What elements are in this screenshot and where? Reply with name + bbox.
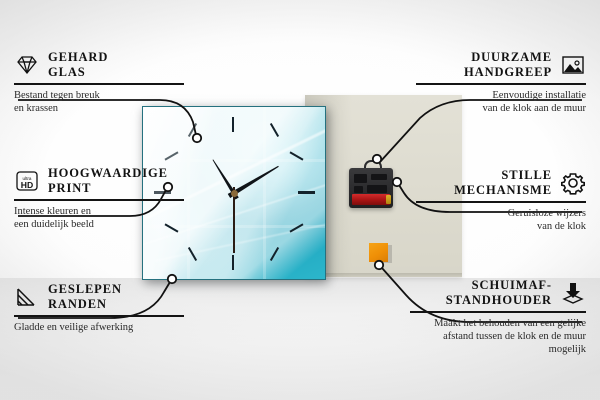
feature-divider <box>416 201 586 203</box>
down-arrow-pad-icon <box>560 281 586 305</box>
feature-subtitle-line1: Intense kleuren en <box>14 205 184 218</box>
feature-title: GESLEPEN RANDEN <box>48 282 122 312</box>
feature-geslepen-randen[interactable]: GESLEPEN RANDEN Gladde en veilige afwerk… <box>14 282 184 334</box>
feature-subtitle-line2: en krassen <box>14 102 184 115</box>
leader-node-mechanisme <box>393 178 401 186</box>
feature-title-line2: GLAS <box>48 65 108 80</box>
feature-header: GESLEPEN RANDEN <box>14 282 184 312</box>
feature-title-line2: RANDEN <box>48 297 122 312</box>
feature-subtitle-line2: van de klok aan de muur <box>416 102 586 115</box>
feature-divider <box>14 315 184 317</box>
feature-title: DUURZAME HANDGREEP <box>464 50 552 80</box>
product-infographic: GEHARD GLAS Bestand tegen breuk en krass… <box>0 0 600 400</box>
diamond-icon <box>14 53 40 77</box>
beveled-edges-icon <box>14 285 40 309</box>
feature-duurzame-handgreep[interactable]: DUURZAME HANDGREEP Eenvoudige installati… <box>416 50 586 115</box>
feature-title: GEHARD GLAS <box>48 50 108 80</box>
feature-header: ultra HD HOOGWAARDIGE PRINT <box>14 166 184 196</box>
feature-subtitle-line2: afstand tussen de klok en de muur mogeli… <box>410 330 586 356</box>
gear-icon <box>560 171 586 195</box>
feature-subtitle-line2: van de klok <box>416 220 586 233</box>
feature-subtitle-line1: Maakt het behouden van een gelijke <box>410 317 586 330</box>
feature-divider <box>14 199 184 201</box>
feature-subtitle-line1: Eenvoudige installatie <box>416 89 586 102</box>
feature-title: HOOGWAARDIGE PRINT <box>48 166 168 196</box>
feature-divider <box>410 311 586 313</box>
feature-gehard-glas[interactable]: GEHARD GLAS Bestand tegen breuk en krass… <box>14 50 184 115</box>
feature-title-line1: GESLEPEN <box>48 282 122 297</box>
feature-stille-mechanisme[interactable]: STILLE MECHANISME Geruisloze wijzers van… <box>416 168 586 233</box>
feature-header: GEHARD GLAS <box>14 50 184 80</box>
leader-node-gehard <box>193 134 201 142</box>
feature-divider <box>14 83 184 85</box>
feature-header: DUURZAME HANDGREEP <box>416 50 586 80</box>
feature-subtitle-line1: Gladde en veilige afwerking <box>14 321 184 334</box>
feature-subtitle-line1: Geruisloze wijzers <box>416 207 586 220</box>
feature-schuimaf-standhouder[interactable]: SCHUIMAF- STANDHOUDER Maakt het behouden… <box>410 278 586 356</box>
ultra-hd-icon: ultra HD <box>14 169 40 193</box>
feature-title-line1: STILLE <box>454 168 552 183</box>
picture-frame-icon <box>560 53 586 77</box>
feature-title-line1: GEHARD <box>48 50 108 65</box>
feature-title-line2: MECHANISME <box>454 183 552 198</box>
feature-title-line1: DUURZAME <box>464 50 552 65</box>
feature-subtitle-line1: Bestand tegen breuk <box>14 89 184 102</box>
feature-hoogwaardige-print[interactable]: ultra HD HOOGWAARDIGE PRINT Intense kleu… <box>14 166 184 231</box>
feature-header: STILLE MECHANISME <box>416 168 586 198</box>
feature-title-line1: HOOGWAARDIGE <box>48 166 168 181</box>
feature-title-line2: PRINT <box>48 181 168 196</box>
feature-subtitle-line2: een duidelijk beeld <box>14 218 184 231</box>
feature-title-line1: SCHUIMAF- <box>446 278 552 293</box>
feature-divider <box>416 83 586 85</box>
svg-text:HD: HD <box>21 180 33 190</box>
leader-node-standhouder <box>375 261 383 269</box>
feature-title: STILLE MECHANISME <box>454 168 552 198</box>
feature-header: SCHUIMAF- STANDHOUDER <box>410 278 586 308</box>
feature-title-line2: STANDHOUDER <box>446 293 552 308</box>
feature-title-line2: HANDGREEP <box>464 65 552 80</box>
feature-title: SCHUIMAF- STANDHOUDER <box>446 278 552 308</box>
leader-node-handgreep <box>373 155 381 163</box>
